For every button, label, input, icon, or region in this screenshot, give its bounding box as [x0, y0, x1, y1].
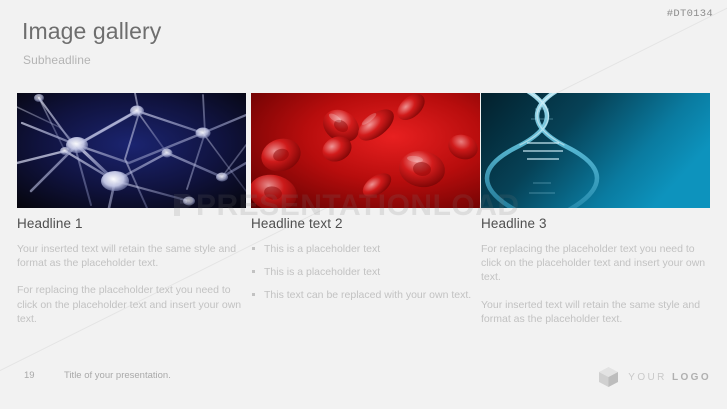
footer-logo[interactable]: YOUR LOGO — [598, 366, 711, 388]
cube-icon — [598, 366, 619, 388]
bullet-dot-icon — [252, 270, 255, 273]
column-3-headline: Headline 3 — [481, 216, 710, 231]
column-3-paragraph-1[interactable]: For replacing the placeholder text you n… — [481, 242, 710, 285]
bullet-dot-icon — [252, 293, 255, 296]
list-item-label: This is a placeholder text — [264, 266, 380, 278]
red-blood-cells-graphic — [251, 93, 480, 208]
column-2-bullet-list: This is a placeholder text This is a pla… — [251, 242, 480, 303]
column-1-paragraph-2[interactable]: For replacing the placeholder text you n… — [17, 283, 246, 326]
column-2-headline: Headline text 2 — [251, 216, 480, 231]
list-item[interactable]: This is a placeholder text — [251, 265, 480, 279]
list-item[interactable]: This text can be replaced with your own … — [251, 288, 480, 302]
logo-word-2: LOGO — [672, 372, 711, 383]
page-subtitle: Subheadline — [23, 53, 91, 67]
dna-helix-graphic — [481, 93, 710, 208]
column-1-headline: Headline 1 — [17, 216, 246, 231]
gallery-column-2: Headline text 2 This is a placeholder te… — [251, 216, 480, 303]
dna-helix-image[interactable] — [481, 93, 710, 208]
neuron-network-graphic — [17, 93, 246, 208]
column-3-paragraph-2[interactable]: Your inserted text will retain the same … — [481, 298, 710, 326]
red-blood-cells-image[interactable] — [251, 93, 480, 208]
list-item-label: This is a placeholder text — [264, 243, 380, 255]
bullet-dot-icon — [252, 247, 255, 250]
list-item-label: This text can be replaced with your own … — [264, 289, 471, 301]
footer-page-number: 19 — [24, 370, 35, 381]
slide-canvas: #DT0134 Image gallery Subheadline — [0, 0, 727, 409]
neuron-network-image[interactable] — [17, 93, 246, 208]
gallery-column-1: Headline 1 Your inserted text will retai… — [17, 216, 246, 326]
gallery-column-3: Headline 3 For replacing the placeholder… — [481, 216, 710, 326]
document-id-tag: #DT0134 — [667, 8, 713, 20]
list-item[interactable]: This is a placeholder text — [251, 242, 480, 256]
page-title: Image gallery — [22, 18, 161, 45]
logo-text: YOUR LOGO — [628, 372, 711, 383]
column-1-paragraph-1[interactable]: Your inserted text will retain the same … — [17, 242, 246, 270]
logo-word-1: YOUR — [628, 372, 667, 383]
footer-presentation-title[interactable]: Title of your presentation. — [64, 370, 171, 381]
